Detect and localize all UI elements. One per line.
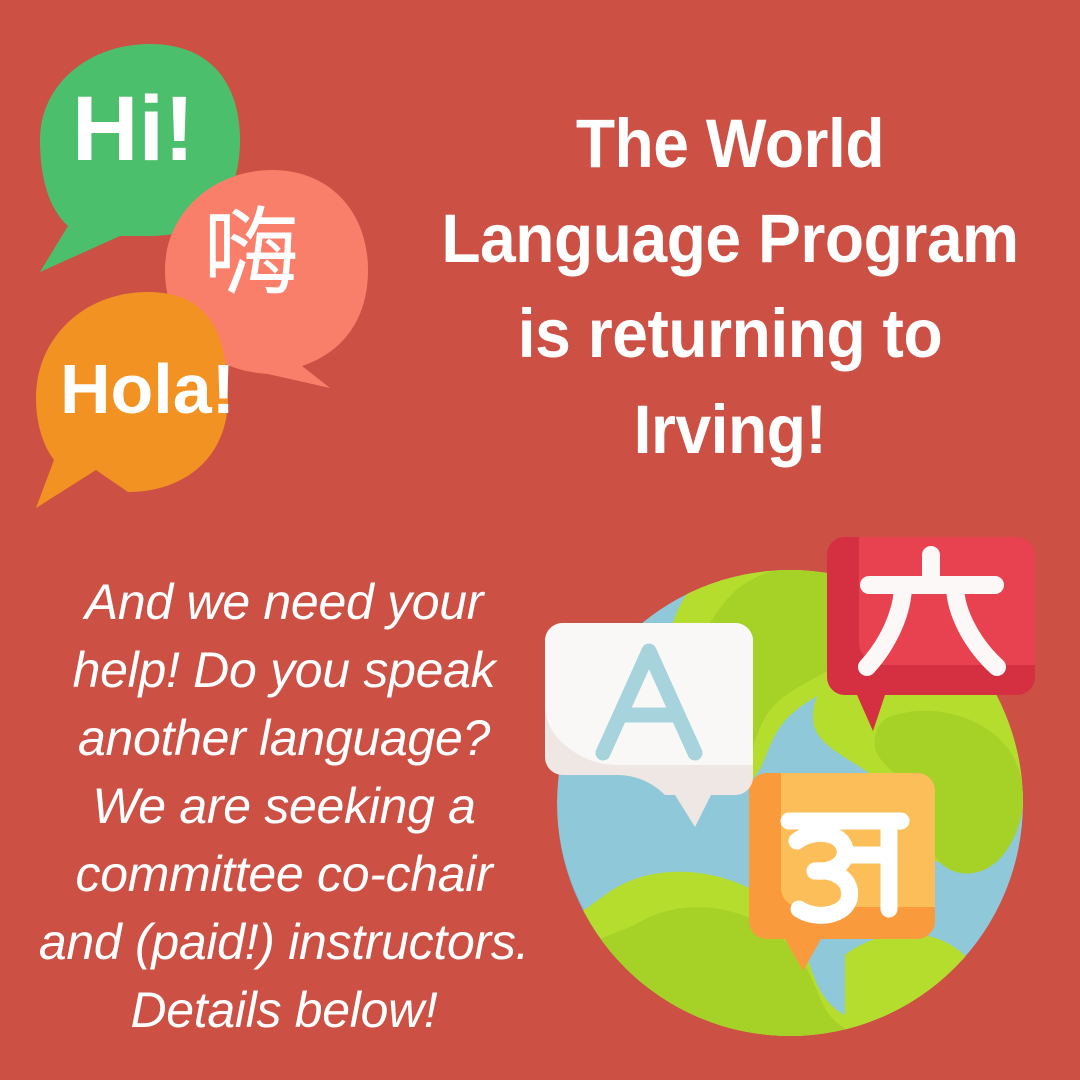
- body-line-1: And we need your: [14, 568, 554, 636]
- headline-line-2: Language Program: [421, 191, 1039, 286]
- body-line-7: Details below!: [14, 976, 554, 1044]
- body-line-4: We are seeking a: [14, 772, 554, 840]
- headline-line-1: The World: [421, 96, 1039, 191]
- speech-bubble-label-spanish: Hola!: [60, 354, 235, 424]
- body-line-2: help! Do you speak: [14, 636, 554, 704]
- headline: The World Language Program is returning …: [421, 96, 1039, 477]
- speech-bubble-cluster: Hi! 嗨 Hola!: [0, 0, 420, 540]
- speech-bubble-label-english: Hi!: [72, 83, 195, 175]
- headline-line-4: Irving!: [421, 382, 1039, 477]
- body-line-5: committee co-chair: [14, 840, 554, 908]
- body-copy: And we need your help! Do you speak anot…: [14, 568, 554, 1044]
- speech-bubble-label-chinese: 嗨: [203, 206, 299, 302]
- body-line-3: another language?: [14, 704, 554, 772]
- body-line-6: and (paid!) instructors.: [14, 908, 554, 976]
- poster-canvas: Hi! 嗨 Hola! The World Language Program i…: [0, 0, 1080, 1080]
- translation-globe-illustration: [545, 525, 1045, 1045]
- headline-line-3: is returning to: [421, 286, 1039, 381]
